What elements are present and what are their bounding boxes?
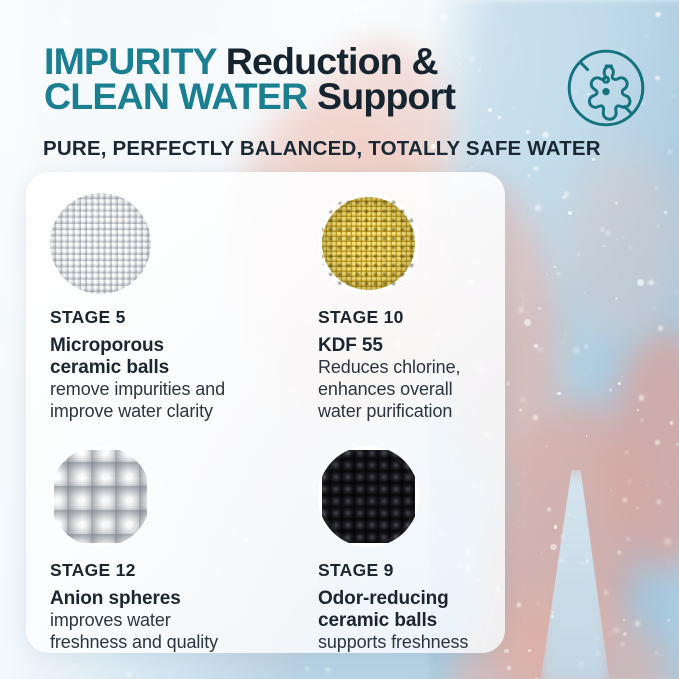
ingredients-grid: STAGE 5 Microporousceramic balls remove … <box>26 172 505 653</box>
germ-blocked-icon <box>560 42 652 134</box>
ingredient-name: Odor-reducingceramic balls <box>318 588 505 632</box>
stage-label: STAGE 12 <box>50 561 296 579</box>
ingredient-name: Microporousceramic balls <box>50 335 296 379</box>
page-subtitle: PURE, PERFECTLY BALANCED, TOTALLY SAFE W… <box>43 137 601 161</box>
ingredients-card: STAGE 5 Microporousceramic balls remove … <box>26 172 505 653</box>
title-accent-2: CLEAN WATER <box>44 75 307 117</box>
kdf-55-granules-image <box>318 193 419 294</box>
microporous-ceramic-beads-image <box>50 193 151 294</box>
ingredient-name: KDF 55 <box>318 335 505 357</box>
ingredient-name: Anion spheres <box>50 588 296 610</box>
ingredient-item: STAGE 12 Anion spheres improves waterfre… <box>50 446 296 654</box>
ingredient-description: Reduces chlorine,enhances overallwater p… <box>318 357 505 422</box>
stage-label: STAGE 10 <box>318 308 505 326</box>
ingredient-item: STAGE 5 Microporousceramic balls remove … <box>50 193 296 446</box>
page-title: IMPURITY Reduction & CLEAN WATER Support <box>44 44 564 114</box>
stage-label: STAGE 9 <box>318 561 505 579</box>
black-ceramic-balls-image <box>318 446 419 547</box>
ingredient-item: STAGE 9 Odor-reducingceramic balls suppo… <box>296 446 505 654</box>
ingredient-description: supports freshness <box>318 632 505 654</box>
ingredient-item: STAGE 10 KDF 55 Reduces chlorine,enhance… <box>296 193 505 446</box>
ingredient-description: remove impurities andimprove water clari… <box>50 379 296 422</box>
stage-label: STAGE 5 <box>50 308 296 326</box>
ingredient-description: improves waterfreshness and quality <box>50 610 296 653</box>
anion-spheres-image <box>50 446 151 547</box>
title-line-2: CLEAN WATER Support <box>44 79 564 114</box>
title-line-1: IMPURITY Reduction & <box>44 44 564 79</box>
title-rest-2: Support <box>307 75 455 117</box>
